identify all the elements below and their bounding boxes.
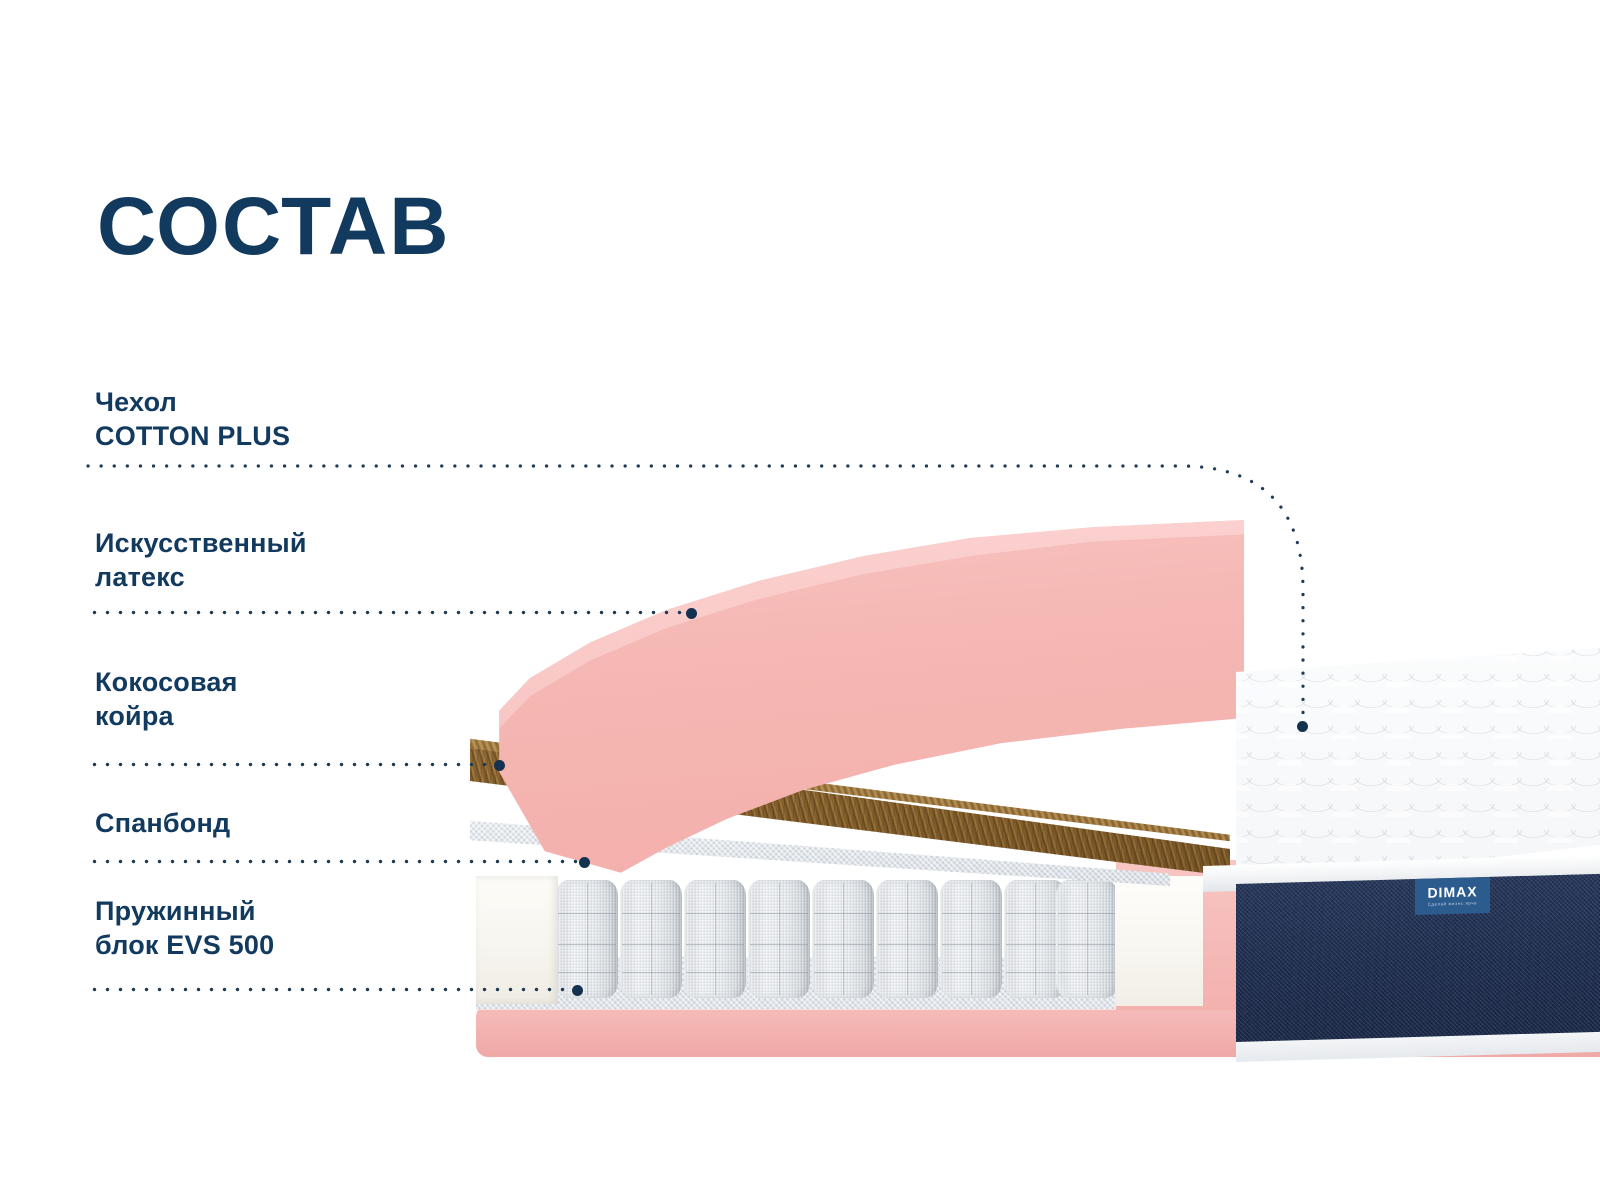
leader-dot-cover: [1297, 721, 1308, 732]
leader-dot-spunbond: [579, 857, 590, 868]
label-artificial-latex: Искусственный латекс: [95, 526, 307, 594]
label-spunbond: Спанбонд: [95, 806, 230, 840]
brand-tagline: Сделай жизнь ярче: [1428, 902, 1478, 908]
spring-pocket: [812, 880, 874, 998]
leader-dot-coconut-coir: [494, 760, 505, 771]
spring-pocket: [556, 880, 618, 998]
label-spring-block: Пружинный блок EVS 500: [95, 894, 274, 962]
brand-name: DIMAX: [1427, 885, 1477, 900]
foam-border-block-left: [476, 876, 558, 1004]
leader-line-spring-block: [88, 987, 574, 992]
spring-pocket: [620, 880, 682, 998]
spring-pocket: [940, 880, 1002, 998]
dimax-brand-tag: DIMAX Сделай жизнь ярче: [1415, 877, 1490, 915]
leader-line-artificial-latex: [88, 610, 688, 615]
label-coconut-coir: Кокосовая койра: [95, 665, 238, 733]
leader-line-coconut-coir: [88, 762, 496, 767]
spring-pocket: [684, 880, 746, 998]
label-cover: Чехол COTTON PLUS: [95, 385, 290, 453]
mattress-cutaway-illustration: DIMAX Сделай жизнь ярче: [0, 0, 1600, 1201]
quilting-pattern-highlight: [1236, 648, 1600, 888]
pocket-spring-block: [556, 880, 1116, 1000]
composition-infographic: СОСТАВ: [0, 0, 1600, 1201]
foam-border-block-right: [1115, 876, 1203, 1006]
spring-pocket: [748, 880, 810, 998]
spring-pocket: [1056, 880, 1118, 998]
leader-line-spunbond: [88, 859, 581, 864]
leader-dot-spring-block: [572, 985, 583, 996]
spring-pocket: [876, 880, 938, 998]
leader-dot-artificial-latex: [686, 608, 697, 619]
